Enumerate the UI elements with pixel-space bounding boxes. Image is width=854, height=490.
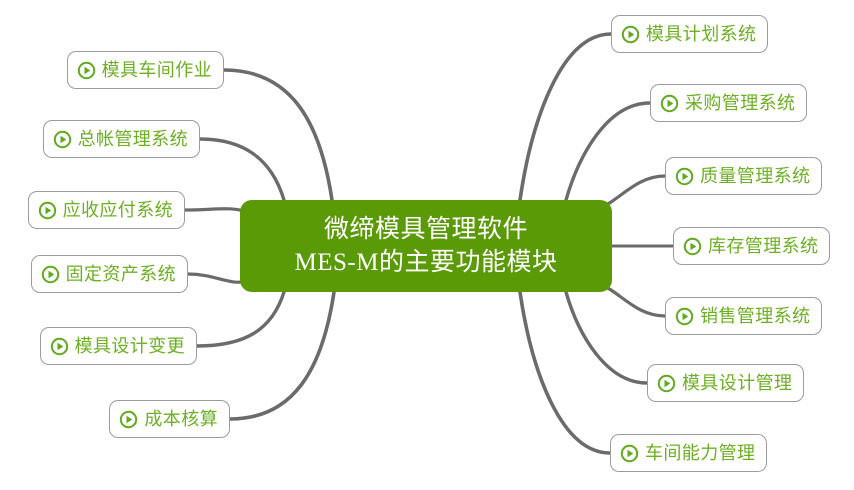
branch-node-label: 总帐管理系统	[78, 130, 188, 149]
central-node[interactable]: 微缔模具管理软件 MES-M的主要功能模块	[240, 200, 612, 292]
branch-node-label: 采购管理系统	[685, 94, 795, 113]
branch-node-label: 固定资产系统	[66, 265, 176, 284]
connector-left-6	[230, 292, 334, 419]
connector-right-2	[566, 103, 650, 200]
central-node-label: 微缔模具管理软件 MES-M的主要功能模块	[281, 213, 572, 279]
play-circle-icon	[675, 307, 694, 326]
branch-node-right-4[interactable]: 库存管理系统	[673, 227, 830, 265]
play-circle-icon	[53, 130, 72, 149]
connector-right-5	[600, 284, 665, 316]
mindmap-canvas: 微缔模具管理软件 MES-M的主要功能模块 模具车间作业总帐管理系统应收应付系统…	[0, 0, 854, 490]
branch-node-right-2[interactable]: 采购管理系统	[650, 84, 807, 122]
connector-left-1	[224, 70, 332, 200]
play-circle-icon	[660, 94, 679, 113]
branch-node-label: 车间能力管理	[645, 444, 755, 463]
branch-node-label: 模具计划系统	[646, 25, 756, 44]
branch-node-right-1[interactable]: 模具计划系统	[611, 15, 768, 53]
branch-node-left-3[interactable]: 应收应付系统	[28, 191, 185, 229]
branch-node-label: 质量管理系统	[700, 167, 810, 186]
play-circle-icon	[119, 410, 138, 429]
play-circle-icon	[621, 25, 640, 44]
branch-node-label: 库存管理系统	[708, 237, 818, 256]
branch-node-label: 模具车间作业	[102, 61, 212, 80]
branch-node-right-7[interactable]: 车间能力管理	[610, 434, 767, 472]
branch-node-label: 模具设计变更	[75, 337, 185, 356]
branch-node-left-1[interactable]: 模具车间作业	[67, 51, 224, 89]
branch-node-right-5[interactable]: 销售管理系统	[665, 297, 822, 335]
branch-node-label: 成本核算	[144, 410, 218, 429]
branch-node-left-2[interactable]: 总帐管理系统	[43, 120, 200, 158]
branch-node-right-6[interactable]: 模具设计管理	[647, 364, 804, 402]
branch-node-left-5[interactable]: 模具设计变更	[40, 327, 197, 365]
play-circle-icon	[657, 374, 676, 393]
connector-right-3	[600, 176, 665, 208]
play-circle-icon	[41, 265, 60, 284]
connector-left-3	[185, 209, 247, 212]
connector-right-7	[520, 292, 610, 453]
branch-node-left-6[interactable]: 成本核算	[109, 400, 230, 438]
connector-left-4	[188, 274, 247, 282]
play-circle-icon	[675, 167, 694, 186]
connector-right-6	[566, 292, 647, 383]
connector-left-2	[200, 139, 284, 200]
branch-node-right-3[interactable]: 质量管理系统	[665, 157, 822, 195]
branch-node-label: 应收应付系统	[63, 201, 173, 220]
branch-node-label: 销售管理系统	[700, 307, 810, 326]
branch-node-left-4[interactable]: 固定资产系统	[31, 255, 188, 293]
play-circle-icon	[77, 61, 96, 80]
play-circle-icon	[38, 201, 57, 220]
connector-left-5	[197, 292, 284, 346]
play-circle-icon	[683, 237, 702, 256]
branch-node-label: 模具设计管理	[682, 374, 792, 393]
play-circle-icon	[620, 444, 639, 463]
play-circle-icon	[50, 337, 69, 356]
connector-right-1	[520, 34, 611, 200]
